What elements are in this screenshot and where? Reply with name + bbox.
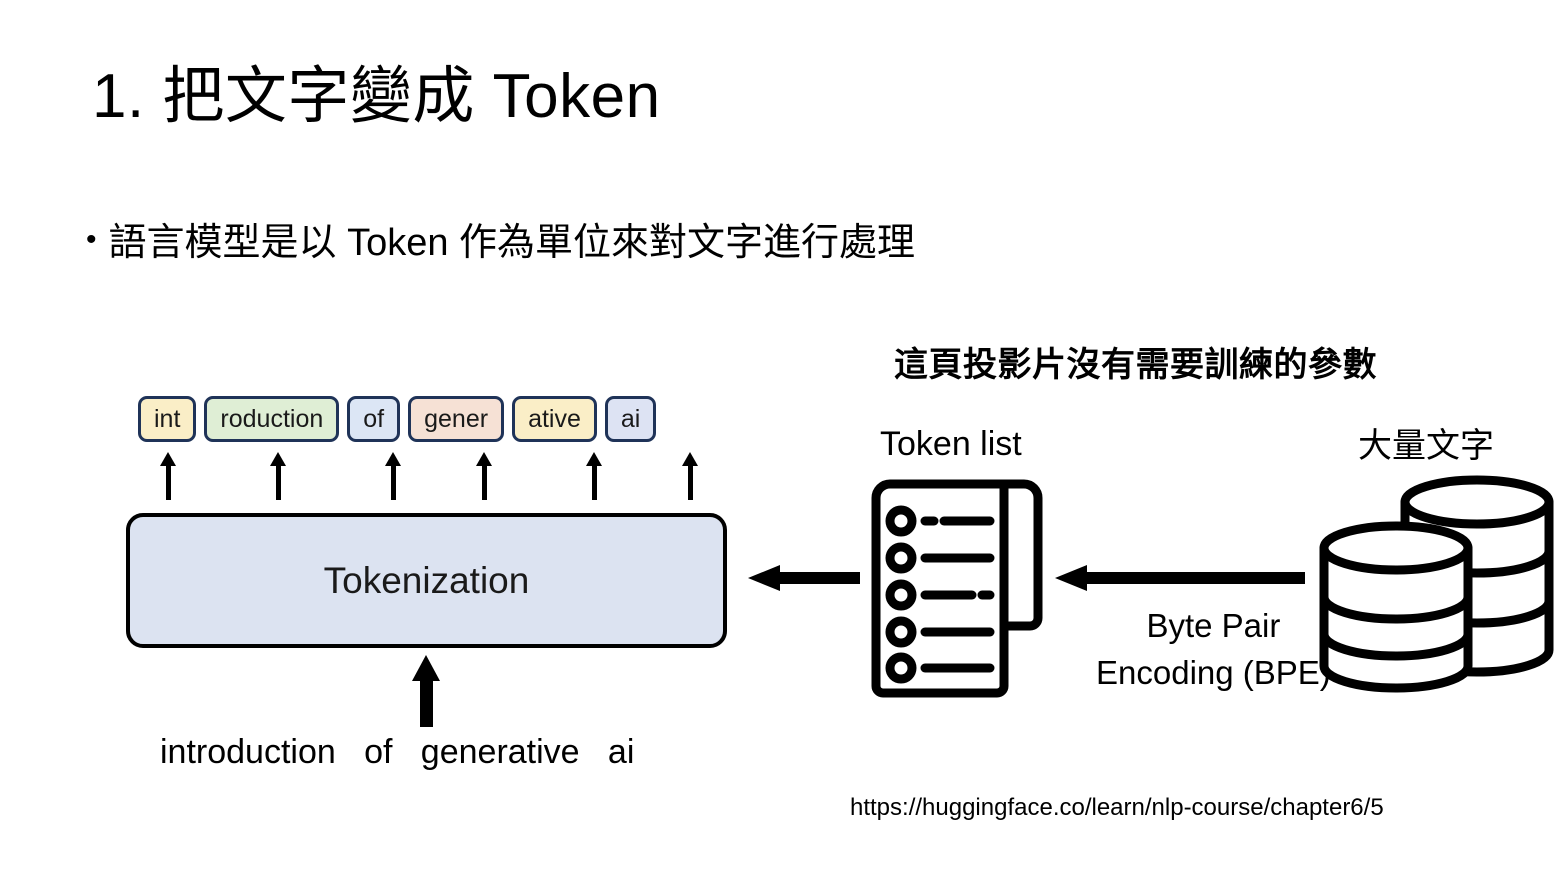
page-title: 1. 把文字變成 Token: [92, 62, 661, 131]
bpe-label-line1: Byte Pair: [1096, 603, 1331, 650]
corpus-label: 大量文字: [1358, 418, 1494, 467]
token-chip: of: [347, 396, 400, 442]
token-chip-label: gener: [424, 405, 488, 434]
bullet-text: 語言模型是以 Token 作為單位來對文字進行處理: [109, 222, 916, 266]
token-chip: roduction: [204, 396, 339, 442]
token-chip-label: of: [363, 405, 384, 434]
input-sentence-text: introduction of generative ai: [160, 733, 634, 772]
token-chip-label: ative: [528, 405, 581, 434]
bpe-label-line2: Encoding (BPE): [1096, 650, 1331, 697]
no-trainable-params-note: 這頁投影片沒有需要訓練的參數: [894, 337, 1377, 386]
token-chip-label: int: [154, 405, 180, 434]
token-chip: ative: [512, 396, 597, 442]
token-chip: ai: [605, 396, 656, 442]
arrow-up-icon: [590, 452, 599, 502]
arrow-up-icon: [164, 452, 173, 502]
arrow-up-thick-icon: [412, 655, 440, 727]
tokenization-label: Tokenization: [324, 560, 530, 602]
slide-canvas: 1. 把文字變成 Token • 語言模型是以 Token 作為單位來對文字進行…: [0, 0, 1568, 882]
arrow-up-icon: [686, 452, 695, 502]
bpe-label: Byte Pair Encoding (BPE): [1096, 603, 1331, 697]
database-stack-icon: [1310, 470, 1568, 705]
arrow-up-icon: [480, 452, 489, 502]
token-list-label: Token list: [880, 425, 1022, 464]
arrow-left-icon: [748, 565, 860, 591]
bullet-marker-icon: •: [86, 225, 97, 255]
arrow-up-icon: [389, 452, 398, 502]
token-chip-list: int roduction of gener ative ai: [138, 396, 656, 442]
arrow-left-icon: [1055, 565, 1305, 591]
token-list-document-icon: [862, 476, 1062, 706]
bullet-line: • 語言模型是以 Token 作為單位來對文字進行處理: [86, 222, 915, 266]
token-chip: gener: [408, 396, 504, 442]
tokenization-process-box: Tokenization: [126, 513, 727, 648]
arrow-up-icon: [274, 452, 283, 502]
token-chip: int: [138, 396, 196, 442]
source-url-text: https://huggingface.co/learn/nlp-course/…: [850, 794, 1384, 822]
token-chip-label: ai: [621, 405, 640, 434]
token-chip-label: roduction: [220, 405, 323, 434]
